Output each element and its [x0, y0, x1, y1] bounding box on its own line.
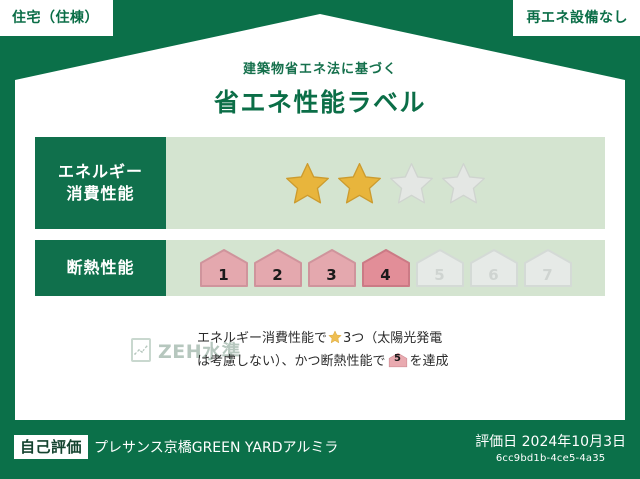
insulation-level-4: 4	[361, 248, 411, 288]
insulation-level-3: 3	[307, 248, 357, 288]
energy-star-rating	[284, 161, 487, 206]
inline-house-badge-icon: 5	[388, 352, 408, 368]
zeh-desc-line2-suffix: を達成	[410, 354, 449, 369]
insulation-performance-header: 断熱性能	[35, 240, 166, 296]
inline-house-level: 5	[388, 352, 408, 368]
insulation-level-number: 4	[361, 268, 411, 283]
energy-header-line2: 消費性能	[66, 183, 134, 205]
insulation-level-number: 1	[199, 268, 249, 283]
inline-star-icon	[328, 333, 342, 348]
evaluation-date: 評価日 2024年10月3日	[475, 433, 626, 451]
star-filled-icon	[336, 161, 383, 206]
energy-performance-body	[166, 137, 605, 229]
insulation-level-number: 6	[469, 268, 519, 283]
energy-performance-row: エネルギー 消費性能	[35, 137, 605, 229]
building-type-tag: 住宅（住棟）	[0, 0, 113, 36]
zeh-standard-area: ZEH水準 エネルギー消費性能で3つ（太陽光発電 は考慮しない）、かつ断熱性能で…	[35, 328, 605, 373]
insulation-level-7: 7	[523, 248, 573, 288]
footer-right-group: 評価日 2024年10月3日 6cc9bd1b-4ce5-4a35	[475, 433, 626, 466]
energy-performance-header: エネルギー 消費性能	[35, 137, 166, 229]
star-empty-icon	[388, 161, 435, 206]
insulation-performance-row: 断熱性能 1234567	[35, 240, 605, 296]
zeh-desc-line1-suffix: 3つ（太陽光発電	[343, 331, 442, 346]
evaluation-id: 6cc9bd1b-4ce5-4a35	[475, 452, 626, 466]
label-footer: 自己評価 プレサンス京橋GREEN YARDアルミラ 評価日 2024年10月3…	[0, 420, 640, 479]
page-title: 省エネ性能ラベル	[0, 83, 640, 119]
zeh-desc-line1-prefix: エネルギー消費性能で	[197, 331, 327, 346]
insulation-level-number: 5	[415, 268, 465, 283]
title-subtitle: 建築物省エネ法に基づく	[0, 58, 640, 77]
insulation-performance-body: 1234567	[166, 240, 605, 296]
title-block: 建築物省エネ法に基づく 省エネ性能ラベル	[0, 58, 640, 119]
insulation-level-number: 7	[523, 268, 573, 283]
insulation-level-6: 6	[469, 248, 519, 288]
insulation-level-number: 3	[307, 268, 357, 283]
insulation-level-scale: 1234567	[199, 248, 573, 288]
self-evaluation-badge: 自己評価	[14, 435, 88, 459]
footer-left-group: 自己評価 プレサンス京橋GREEN YARDアルミラ	[14, 435, 338, 459]
star-filled-icon	[284, 161, 331, 206]
insulation-level-number: 2	[253, 268, 303, 283]
zeh-description: エネルギー消費性能で3つ（太陽光発電 は考慮しない）、かつ断熱性能で5を達成	[187, 328, 605, 373]
renewable-equipment-tag: 再エネ設備なし	[513, 0, 640, 36]
zeh-desc-line2-prefix: は考慮しない）、かつ断熱性能で	[197, 354, 386, 369]
property-name: プレサンス京橋GREEN YARDアルミラ	[94, 437, 338, 457]
energy-header-line1: エネルギー	[58, 161, 143, 183]
insulation-level-1: 1	[199, 248, 249, 288]
energy-performance-label: 住宅（住棟） 再エネ設備なし 建築物省エネ法に基づく 省エネ性能ラベル エネルギ…	[0, 0, 640, 479]
star-empty-icon	[440, 161, 487, 206]
insulation-level-5: 5	[415, 248, 465, 288]
zeh-mark-icon	[131, 338, 151, 362]
insulation-header-line1: 断熱性能	[66, 257, 134, 279]
insulation-level-2: 2	[253, 248, 303, 288]
zeh-logo: ZEH水準	[35, 337, 187, 364]
